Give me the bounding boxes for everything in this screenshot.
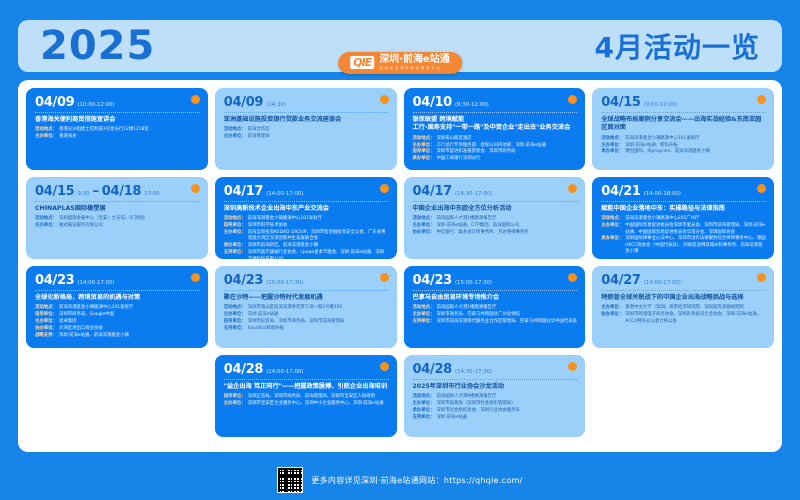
detail-label: 主办单位： bbox=[413, 401, 435, 407]
logo-name: 深圳·前海e站通 bbox=[379, 55, 450, 65]
event-card[interactable]: 04/17(14:30-17:30)中国企业出海中东欧全方位分析活动活动地点：前… bbox=[404, 177, 586, 259]
event-date-line: 04/28(14:00-17:00) bbox=[224, 362, 389, 377]
detail-label: 承办单位： bbox=[413, 408, 435, 414]
detail-value: 深圳市宝安区企业服务中心、深圳中小企业服务中心、深圳·前海e站通 bbox=[248, 401, 384, 407]
event-time: (14:30-17:30) bbox=[455, 191, 492, 197]
detail-value: 前海深港基金小镇路演中心101发射厅 bbox=[248, 216, 322, 222]
detail-label: 协办单位： bbox=[601, 312, 623, 325]
detail-value: 深圳·前海e站通、CTP集团、航海国际公司 bbox=[436, 223, 519, 229]
detail-label: 支持单位： bbox=[413, 319, 435, 325]
event-date-line: 04/17(14:30-17:30) bbox=[413, 184, 578, 199]
detail-value: 深圳南山丽思酒店 bbox=[436, 136, 471, 142]
event-detail-row: 活动地点：前海国际人才港1楼路演报告厅 bbox=[413, 305, 578, 311]
event-detail-row: 活动地点：前海国际人才港9楼路演报告厅 bbox=[413, 394, 578, 400]
event-title: 中国企业出海中东欧全方位分析活动 bbox=[413, 205, 578, 213]
card-divider bbox=[224, 112, 389, 113]
event-detail-rows: 活动地点：前海合作区主办单位：前海管理局 bbox=[224, 127, 389, 140]
detail-label: 主办单位： bbox=[601, 143, 623, 149]
event-card[interactable]: 04/23(14:00-17:00)全球化新格局，跨境贸易的机遇与对策活动地点：… bbox=[26, 266, 208, 348]
event-card[interactable]: 04/28(14:30-17:30)2025年深圳市行业协会沙龙活动活动地点：前… bbox=[404, 355, 586, 437]
detail-label: 指导单位： bbox=[224, 394, 246, 400]
detail-value: 香港海关 bbox=[59, 134, 77, 140]
detail-label: 支持单位： bbox=[224, 326, 246, 332]
event-detail-rows: 活动地点：前海国际人才港9楼路演报告厅主办单位：深圳市民政局（深圳市社会组织管理… bbox=[413, 394, 578, 421]
event-detail-rows: 活动地点：前海深港基金小镇路演中心101发射厅指导单位：深圳市商务局、Googl… bbox=[35, 305, 200, 339]
detail-label: 活动地点： bbox=[35, 127, 57, 133]
detail-value: 思卓集团 bbox=[59, 319, 77, 325]
detail-label: 活动地点： bbox=[601, 216, 623, 222]
detail-value: 前海管理局 bbox=[248, 134, 270, 140]
event-detail-row: 支持单位：SaudiGo跨境外服 bbox=[224, 326, 389, 332]
event-detail-rows: 活动地点：深圳市南山区前海深港青年梦工场一期2号楼101主办单位：深圳·前海e站… bbox=[224, 305, 389, 332]
calendar-panel: 04/09(10:00-12:00)香港海关便利商贸措施宣讲会活动地点：香港尖沙… bbox=[18, 80, 782, 452]
event-detail-row: 指导单位：深圳市商务局、Google中国 bbox=[35, 312, 200, 318]
event-detail-row: 活动地点：前海深港基金小镇路演中心101发射厅 bbox=[224, 216, 389, 222]
detail-value: 深圳·前海e站通、新科开拓 bbox=[625, 143, 677, 149]
event-date-line: 04/09(10:00-12:00) bbox=[35, 95, 200, 110]
detail-label: 活动地点： bbox=[224, 216, 246, 222]
event-date: 04/21 bbox=[601, 184, 640, 199]
detail-label: 主办单位： bbox=[35, 319, 57, 325]
event-date: 04/15 bbox=[601, 95, 640, 110]
detail-value: 前海国际人才港1楼路演报告厅 bbox=[436, 305, 496, 311]
detail-label: 指导单位： bbox=[224, 223, 246, 229]
qr-code-icon bbox=[277, 467, 303, 493]
detail-value: 深圳市跨境电子商务协会、深圳外商投资企业协会、深圳·前海e站通、ACCA特许公认… bbox=[625, 312, 766, 325]
event-detail-row: 主办单位：深圳市商务局、巴拿马共和国驻广州总领馆 bbox=[413, 312, 578, 318]
detail-label: 主办单位： bbox=[224, 312, 246, 318]
status-dot-icon bbox=[380, 273, 389, 282]
detail-label: 主办单位： bbox=[35, 223, 57, 229]
detail-label: 协办单位： bbox=[35, 326, 57, 332]
event-detail-row: 承办单位：深圳市社会组织总会、深圳行业协会服务队 bbox=[413, 408, 578, 414]
event-detail-row: 活动地点：深圳市南山区前海深港青年梦工场一期2号楼101 bbox=[224, 305, 389, 311]
card-divider bbox=[35, 201, 200, 202]
event-title: 深圳高新技术企业出海中东产业交流会 bbox=[224, 205, 389, 213]
detail-label: 承办单位： bbox=[601, 149, 623, 155]
event-detail-row: 活动地点：前海深港基金小镇路演中心101发射厅 bbox=[601, 136, 766, 142]
event-card[interactable]: 04/159:30–04/1817:00CHINAPLAS国际橡塑展活动地点：深… bbox=[26, 177, 208, 259]
event-card[interactable]: 04/15(9:00-12:00)全球战略布局案例分享交流会——出海实战经验&东… bbox=[592, 88, 774, 170]
event-detail-row: 主办单位：深圳·前海e站通、新科开拓 bbox=[601, 143, 766, 149]
detail-value: 深圳市投资局、深圳市商务局、深圳市前海管理局 bbox=[248, 319, 345, 325]
event-detail-rows: 活动地点：前海国际人才港1楼路演报告厅主办单位：深圳市商务局、巴拿马共和国驻广州… bbox=[413, 305, 578, 325]
event-date: 04/23 bbox=[35, 273, 74, 288]
event-title: CHINAPLAS国际橡塑展 bbox=[35, 205, 200, 213]
detail-value: 前海合作区 bbox=[248, 127, 270, 133]
event-title: 巴拿马自由贸易环境专场推介会 bbox=[413, 294, 578, 302]
event-detail-row: 主办单位：深圳·前海e站通、CTP集团、航海国际公司 bbox=[413, 223, 578, 229]
card-divider bbox=[413, 290, 578, 291]
detail-value: 香港中文大学（深圳）高等经济研究院、深圳高等金融研究院 bbox=[625, 305, 744, 311]
event-date: 04/10 bbox=[413, 95, 452, 110]
event-date-line: 04/23(15:00-17:30) bbox=[413, 273, 578, 288]
detail-value: 前海国际人才港1楼路演报告厅 bbox=[436, 216, 496, 222]
event-date: 04/23 bbox=[413, 273, 452, 288]
detail-value: 中信银行、复永会计师事务所、方达律师事务所 bbox=[436, 230, 528, 236]
status-dot-icon bbox=[191, 95, 200, 104]
event-card[interactable]: 04/17(14:00-17:00)深圳高新技术企业出海中东产业交流会活动地点：… bbox=[215, 177, 397, 259]
detail-value: 深圳市科学技术协会 bbox=[248, 223, 288, 229]
card-divider bbox=[35, 290, 200, 291]
event-detail-row: 主办单位：深圳·前海e站通 bbox=[224, 312, 389, 318]
event-time: (14:00-17:00) bbox=[644, 280, 681, 286]
event-date: 04/28 bbox=[224, 362, 263, 377]
event-detail-row: 支持单位：深圳市医疗器械行业协会、среди星本节能会、深圳·前海e站通、深圳万… bbox=[224, 250, 389, 259]
detail-value: 前海深港基金小镇路演中心201广州厅 bbox=[625, 216, 699, 222]
detail-label: 主办单位： bbox=[35, 134, 57, 140]
year-label: 2025 bbox=[18, 26, 155, 66]
event-detail-row: 主办单位：前海自贸投资KEDAD GROUP、深圳市智金融投资安全公会、广东省粤… bbox=[224, 230, 389, 243]
event-date-line: 04/27(14:00-17:00) bbox=[601, 273, 766, 288]
event-card[interactable]: 04/10(9:30-12:00)银保联盟 跨境赋能工行-国寿支持"一带一路"及… bbox=[404, 88, 586, 170]
event-detail-row: 活动地点：深圳南山丽思酒店 bbox=[413, 136, 578, 142]
event-card-grid: 04/09(10:00-12:00)香港海关便利商贸措施宣讲会活动地点：香港尖沙… bbox=[26, 88, 774, 444]
event-date-line: 04/28(14:30-17:30) bbox=[413, 362, 578, 377]
detail-label: 主办单位： bbox=[601, 223, 623, 236]
detail-label: 主办单位： bbox=[413, 223, 435, 229]
event-detail-row: 主办单位：工行总行专项服务部、担保公司内地部、深圳·前海e站通 bbox=[413, 143, 578, 149]
event-detail-row: 指导单位：深圳正监局、深圳市商务局、前海管理局、深圳市宝安区人民政府 bbox=[224, 394, 389, 400]
event-time: (14:00-17:00) bbox=[266, 191, 303, 197]
footer-text: 更多内容详见深圳·前海e站通网站：https://qhqie.com/ bbox=[311, 475, 522, 486]
card-divider bbox=[413, 112, 578, 113]
card-divider bbox=[413, 201, 578, 202]
detail-value: 大湾区进出口商业协会 bbox=[59, 326, 103, 332]
event-detail-rows: 活动地点：深圳国际会展中心（宝安）九号馆、5门附近主办单位：雅式展览服务有限公司 bbox=[35, 216, 200, 229]
event-date: 04/23 bbox=[224, 273, 263, 288]
detail-value: 深圳·前海e站通 bbox=[248, 312, 278, 318]
status-dot-icon bbox=[380, 362, 389, 371]
event-detail-row: 主办单位：深圳市宝安区企业服务中心、深圳中小企业服务中心、深圳·前海e站通 bbox=[224, 401, 389, 407]
event-date: 04/28 bbox=[413, 362, 452, 377]
event-date-line: 04/23(15:00-17:30) bbox=[224, 273, 389, 288]
event-date-end: 04/18 bbox=[102, 184, 141, 199]
detail-label: 主办单位： bbox=[413, 143, 435, 149]
detail-label: 活动地点： bbox=[224, 127, 246, 133]
event-detail-row: 指导单位：深圳市投资局、深圳市商务局、深圳市前海管理局 bbox=[224, 319, 389, 325]
detail-label: 活动地点： bbox=[601, 136, 623, 142]
event-detail-row: 协办单位：深圳市跨境电子商务协会、深圳外商投资企业协会、深圳·前海e站通、ACC… bbox=[601, 312, 766, 325]
card-divider bbox=[35, 112, 200, 113]
detail-value: 深圳市医疗器械行业协会、среди星本节能会、深圳·前海e站通、深圳万通科技有限… bbox=[248, 250, 389, 259]
detail-label: 承办单位： bbox=[413, 156, 435, 162]
qie-logo: QIE 深圳·前海e站通 深圳企业海外综合服务平台 bbox=[338, 52, 462, 74]
event-date-separator: – bbox=[93, 184, 99, 199]
detail-value: 中国工商银行深圳分行 bbox=[436, 156, 480, 162]
event-detail-row: 承办单位：深圳市前海新区、前海深港基金小镇 bbox=[224, 243, 389, 249]
event-detail-row: 主办单位：香港海关 bbox=[35, 134, 200, 140]
detail-label: 指导单位： bbox=[224, 319, 246, 325]
event-card[interactable]: 04/09(10:00-12:00)香港海关便利商贸措施宣讲会活动地点：香港尖沙… bbox=[26, 88, 208, 170]
event-card[interactable]: 04/28(14:00-17:00)"益企出海 笃正同行"——把握政策脉搏、引航… bbox=[215, 355, 397, 437]
detail-label: 战略支持： bbox=[35, 333, 57, 339]
event-title: 香港海关便利商贸措施宣讲会 bbox=[35, 116, 200, 124]
detail-label: 指导单位： bbox=[35, 312, 57, 318]
event-title: "益企出海 笃正同行"——把握政策脉搏、引航企业出海培训 bbox=[224, 383, 389, 391]
event-detail-row: 主办单位：中国国际贸易促进委员会深圳市委员会、深圳市前海管理局、深圳·前海e站通… bbox=[601, 223, 766, 236]
event-detail-row: 活动地点：前海国际人才港1楼路演报告厅 bbox=[413, 216, 578, 222]
event-card[interactable]: 04/23(15:00-17:30)聚在沙特——把握沙特时代发展机遇活动地点：深… bbox=[215, 266, 397, 348]
event-card[interactable]: 04/21(14:00-18:00)赋能中国企业落地中东：实操路径与法律指南活动… bbox=[592, 177, 774, 259]
event-time: (14:30) bbox=[266, 102, 286, 108]
event-time-end: 17:00 bbox=[144, 191, 160, 197]
logo-subtitle: 深圳企业海外综合服务平台 bbox=[379, 67, 450, 71]
event-date: 04/27 bbox=[601, 273, 640, 288]
card-divider bbox=[224, 379, 389, 380]
detail-value: 工行总行专项服务部、担保公司内地部、深圳·前海e站通 bbox=[436, 143, 545, 149]
event-card[interactable]: 04/23(15:00-17:30)巴拿马自由贸易环境专场推介会活动地点：前海国… bbox=[404, 266, 586, 348]
detail-value: 中国国际贸易促进委员会深圳市委员会、深圳市前海管理局、深圳·前海e站通、中国国际… bbox=[625, 223, 766, 236]
event-time: (15:00-17:30) bbox=[266, 280, 303, 286]
status-dot-icon bbox=[757, 184, 766, 193]
status-dot-icon bbox=[757, 273, 766, 282]
detail-value: 深圳市南山区前海深港青年梦工场一期2号楼101 bbox=[248, 305, 343, 311]
event-date: 04/09 bbox=[35, 95, 74, 110]
event-date: 04/09 bbox=[224, 95, 263, 110]
event-date-line: 04/15(9:00-12:00) bbox=[601, 95, 766, 110]
status-dot-icon bbox=[380, 95, 389, 104]
event-date-line: 04/10(9:30-12:00) bbox=[413, 95, 578, 110]
event-detail-row: 支持单位：深圳·前海e站通 bbox=[413, 415, 578, 421]
detail-label: 主办单位： bbox=[601, 305, 623, 311]
status-dot-icon bbox=[191, 273, 200, 282]
event-detail-row: 活动地点：前海深港基金小镇路演中心101发射厅 bbox=[35, 305, 200, 311]
detail-value: 深圳市商务局、Google中国 bbox=[59, 312, 114, 318]
detail-label: 活动地点： bbox=[35, 216, 57, 222]
event-time: (9:00-12:00) bbox=[644, 102, 678, 108]
event-date: 04/17 bbox=[224, 184, 263, 199]
detail-value: 深圳国际会展中心（宝安）九号馆、5门附近 bbox=[59, 216, 145, 222]
event-date: 04/15 bbox=[35, 184, 74, 199]
detail-value: 香港尖沙咀梳士巴利道3号星光行12楼1218室 bbox=[59, 127, 149, 133]
detail-label: 主办单位： bbox=[224, 230, 246, 243]
event-detail-rows: 活动地点：深圳南山丽思酒店主办单位：工行总行专项服务部、担保公司内地部、深圳·前… bbox=[413, 136, 578, 163]
event-detail-row: 主办单位：前海管理局 bbox=[224, 134, 389, 140]
event-detail-row: 活动地点：前海合作区 bbox=[224, 127, 389, 133]
event-title: 银保联盟 跨境赋能工行-国寿支持"一带一路"及中资企业"走出去"业务交流会 bbox=[413, 116, 578, 133]
event-detail-row: 活动地点：深圳国际会展中心（宝安）九号馆、5门附近 bbox=[35, 216, 200, 222]
detail-value: 前海深港基金小镇路演中心101发射厅 bbox=[59, 305, 133, 311]
detail-label: 活动地点： bbox=[413, 305, 435, 311]
event-date: 04/17 bbox=[413, 184, 452, 199]
detail-value: 深圳市前海新区、前海深港基金小镇 bbox=[248, 243, 318, 249]
event-detail-row: 主办单位：深圳市民政局（深圳市社会组织管理局） bbox=[413, 401, 578, 407]
event-date-line: 04/23(14:00-17:00) bbox=[35, 273, 200, 288]
event-card[interactable]: 04/27(14:00-17:00)特朗普全球关税战下的中国企业出海战略挑战与选… bbox=[592, 266, 774, 348]
detail-label: 指导单位： bbox=[413, 149, 435, 155]
detail-label: 活动地点： bbox=[224, 305, 246, 311]
event-time: (14:00-17:00) bbox=[77, 280, 114, 286]
event-detail-row: 承办单位：中国工商银行深圳分行 bbox=[413, 156, 578, 162]
event-detail-row: 战略支持：深圳·前海e站通、前海深港基金小镇 bbox=[35, 333, 200, 339]
event-detail-row: 承办单位：深圳国际律事业心法中心、深圳市涉外法律服务综合律师事务中心、德国HKC… bbox=[601, 236, 766, 255]
event-title: 亚洲基础设施投资银行贷款业务交流座谈会 bbox=[224, 116, 389, 124]
detail-value: 深圳市商务局、巴拿马共和国驻广州总领馆 bbox=[436, 312, 519, 318]
detail-value: 前海深港基金小镇路演中心101发射厅 bbox=[625, 136, 699, 142]
detail-value: 深圳·前海e站通、前海深港基金小镇 bbox=[59, 333, 129, 339]
event-detail-row: 活动地点：香港尖沙咀梳士巴利道3号星光行12楼1218室 bbox=[35, 127, 200, 133]
event-date-line: 04/09(14:30) bbox=[224, 95, 389, 110]
detail-value: 前海自贸投资KEDAD GROUP、深圳市智金融投资安全公会、广东省粤港澳大湾区… bbox=[248, 230, 389, 243]
event-title: 特朗普全球关税战下的中国企业出海战略挑战与选择 bbox=[601, 294, 766, 302]
detail-value: 深圳市促进和发展贸易会、深圳市商务局 bbox=[436, 149, 515, 155]
status-dot-icon bbox=[380, 184, 389, 193]
card-divider bbox=[601, 112, 766, 113]
event-time: (15:00-17:30) bbox=[455, 280, 492, 286]
event-detail-rows: 活动地点：前海深港基金小镇路演中心101发射厅主办单位：深圳·前海e站通、新科开… bbox=[601, 136, 766, 156]
event-title: 2025年深圳市行业协会沙龙活动 bbox=[413, 383, 578, 391]
status-dot-icon bbox=[757, 95, 766, 104]
detail-value: SaudiGo跨境外服 bbox=[248, 326, 284, 332]
event-title: 全球化新格局，跨境贸易的机遇与对策 bbox=[35, 294, 200, 302]
detail-label: 支持单位： bbox=[224, 250, 246, 259]
event-date-line: 04/21(14:00-18:00) bbox=[601, 184, 766, 199]
event-detail-rows: 活动地点：前海国际人才港1楼路演报告厅主办单位：深圳·前海e站通、CTP集团、航… bbox=[413, 216, 578, 236]
detail-value: 深圳市前海深港现代服务业合作区管理局、巴拿马共和国驻华中国代表处 bbox=[436, 319, 577, 325]
detail-value: 深圳市民政局（深圳市社会组织管理局） bbox=[436, 401, 515, 407]
event-detail-row: 主办单位：香港中文大学（深圳）高等经济研究院、深圳高等金融研究院 bbox=[601, 305, 766, 311]
event-detail-row: 指导单位：深圳市科学技术协会 bbox=[224, 223, 389, 229]
event-detail-rows: 活动地点：前海深港基金小镇路演中心101发射厅指导单位：深圳市科学技术协会主办单… bbox=[224, 216, 389, 259]
card-divider bbox=[224, 290, 389, 291]
event-time: (10:00-12:00) bbox=[77, 102, 114, 108]
detail-value: 前海国际人才港9楼路演报告厅 bbox=[436, 394, 496, 400]
event-time: (9:30-12:00) bbox=[455, 102, 489, 108]
event-detail-rows: 活动地点：前海深港基金小镇路演中心201广州厅主办单位：中国国际贸易促进委员会深… bbox=[601, 216, 766, 255]
detail-value: 雅式展览服务有限公司 bbox=[59, 223, 103, 229]
detail-value: 深圳国际律事业心法中心、深圳市涉外法律服务综合律师事务中心、德国HKCC商会会（… bbox=[625, 236, 766, 255]
event-date-line: 04/17(14:00-17:00) bbox=[224, 184, 389, 199]
event-detail-row: 指导单位：深圳市促进和发展贸易会、深圳市商务局 bbox=[413, 149, 578, 155]
card-divider bbox=[601, 201, 766, 202]
logo-mark: QIE bbox=[350, 56, 374, 69]
detail-label: 主办单位： bbox=[224, 401, 246, 407]
detail-value: 深圳市社会组织总会、深圳行业协会服务队 bbox=[436, 408, 519, 414]
detail-value: 建恒国际、海program、前海深港基金小镇 bbox=[625, 149, 710, 155]
event-time: (14:30-17:30) bbox=[455, 369, 492, 375]
event-detail-row: 主办单位：雅式展览服务有限公司 bbox=[35, 223, 200, 229]
detail-label: 活动地点： bbox=[413, 136, 435, 142]
page-footer: 更多内容详见深圳·前海e站通网站：https://qhqie.com/ bbox=[0, 460, 800, 500]
detail-label: 承办单位： bbox=[601, 236, 623, 255]
event-title: 赋能中国企业落地中东：实操路径与法律指南 bbox=[601, 205, 766, 213]
event-detail-rows: 活动地点：香港尖沙咀梳士巴利道3号星光行12楼1218室主办单位：香港海关 bbox=[35, 127, 200, 140]
detail-label: 活动地点： bbox=[413, 394, 435, 400]
event-time: (14:00-18:00) bbox=[644, 191, 681, 197]
card-divider bbox=[224, 201, 389, 202]
event-card[interactable]: 04/09(14:30)亚洲基础设施投资银行贷款业务交流座谈会活动地点：前海合作… bbox=[215, 88, 397, 170]
event-date-line: 04/159:30–04/1817:00 bbox=[35, 184, 200, 199]
detail-label: 主办单位： bbox=[413, 312, 435, 318]
event-title: 全球战略布局案例分享交流会——出海实战经验&东南亚园区面对面 bbox=[601, 116, 766, 133]
event-detail-row: 协办单位：大湾区进出口商业协会 bbox=[35, 326, 200, 332]
detail-value: 深圳正监局、深圳市商务局、前海管理局、深圳市宝安区人民政府 bbox=[248, 394, 375, 400]
event-time: (14:00-17:00) bbox=[266, 369, 303, 375]
page-title: 4月活动一览 bbox=[595, 26, 782, 66]
event-detail-rows: 指导单位：深圳正监局、深圳市商务局、前海管理局、深圳市宝安区人民政府主办单位：深… bbox=[224, 394, 389, 407]
detail-label: 支持单位： bbox=[413, 415, 435, 421]
event-title: 聚在沙特——把握沙特时代发展机遇 bbox=[224, 294, 389, 302]
card-divider bbox=[601, 290, 766, 291]
detail-label: 活动地点： bbox=[413, 216, 435, 222]
detail-label: 活动地点： bbox=[35, 305, 57, 311]
detail-label: 协办单位： bbox=[413, 230, 435, 236]
event-detail-rows: 主办单位：香港中文大学（深圳）高等经济研究院、深圳高等金融研究院协办单位：深圳市… bbox=[601, 305, 766, 325]
event-time: 9:30 bbox=[77, 191, 89, 197]
detail-label: 承办单位： bbox=[224, 243, 246, 249]
detail-label: 主办单位： bbox=[224, 134, 246, 140]
event-detail-row: 活动地点：前海深港基金小镇路演中心201广州厅 bbox=[601, 216, 766, 222]
event-detail-row: 协办单位：中信银行、复永会计师事务所、方达律师事务所 bbox=[413, 230, 578, 236]
detail-value: 深圳·前海e站通 bbox=[436, 415, 466, 421]
event-detail-row: 支持单位：深圳市前海深港现代服务业合作区管理局、巴拿马共和国驻华中国代表处 bbox=[413, 319, 578, 325]
status-dot-icon bbox=[191, 184, 200, 193]
event-detail-row: 承办单位：建恒国际、海program、前海深港基金小镇 bbox=[601, 149, 766, 155]
card-divider bbox=[413, 379, 578, 380]
event-detail-row: 主办单位：思卓集团 bbox=[35, 319, 200, 325]
